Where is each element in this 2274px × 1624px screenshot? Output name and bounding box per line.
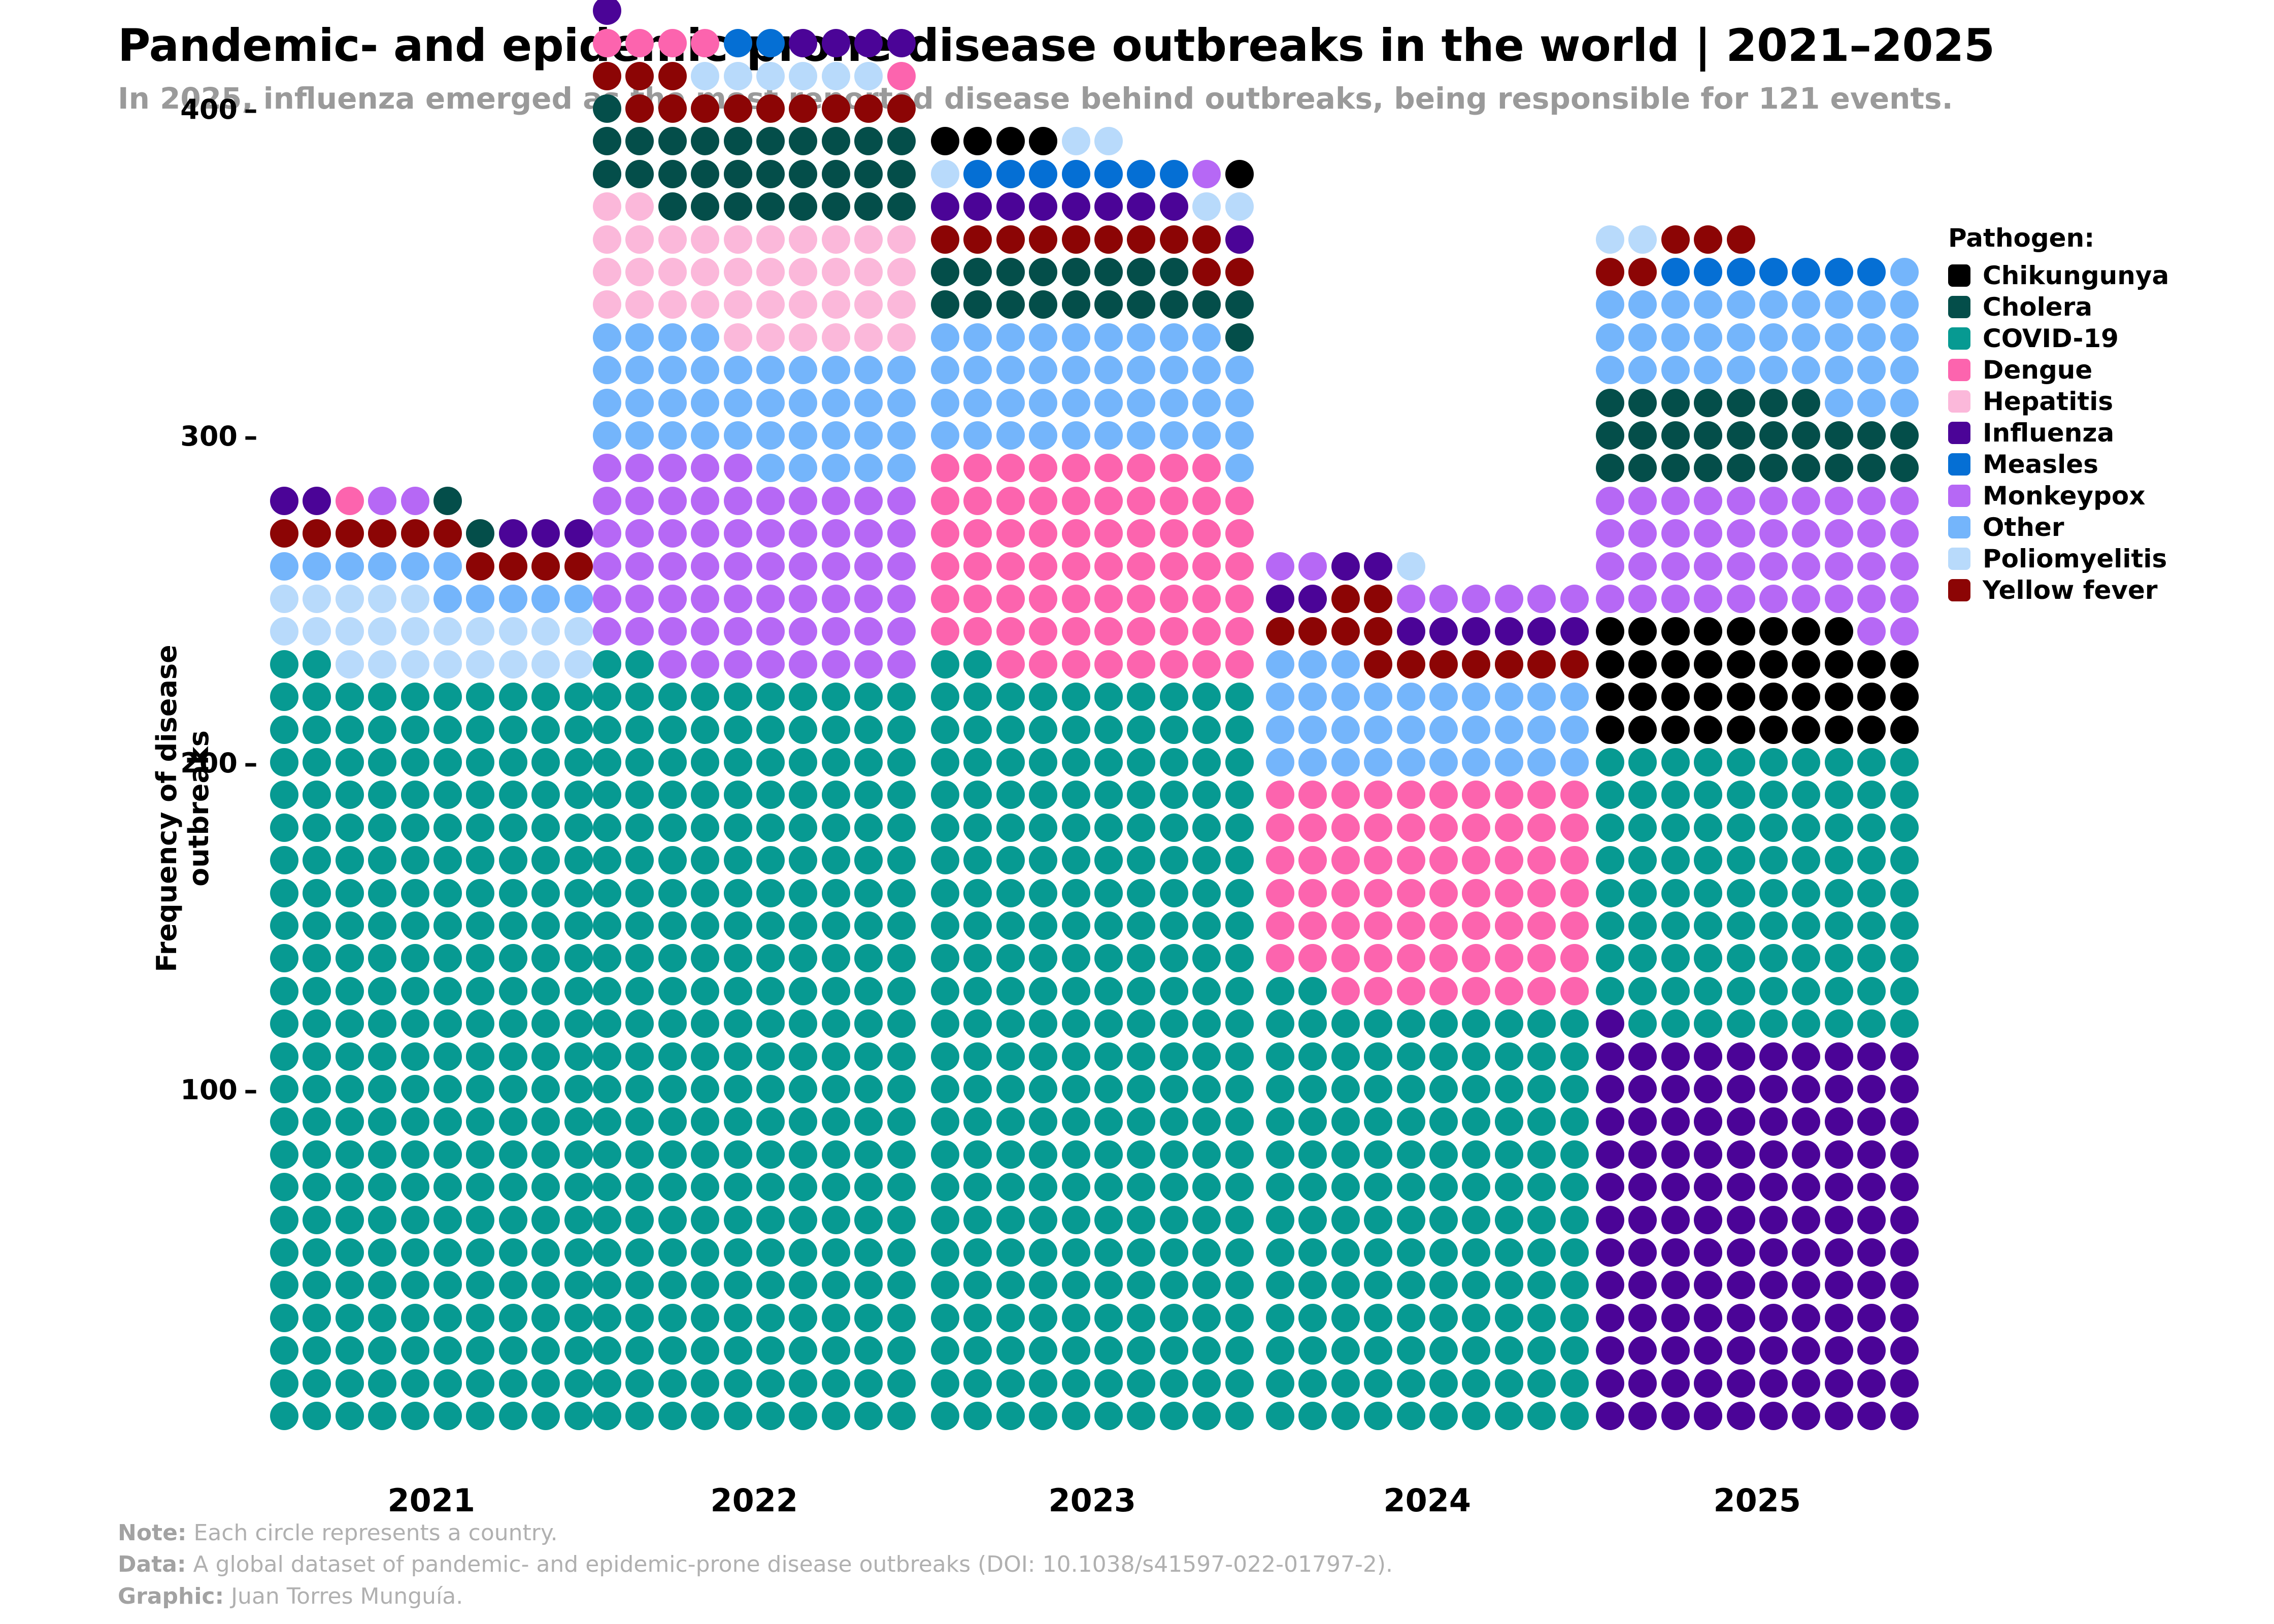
waffle-dot	[887, 1304, 916, 1332]
waffle-dot	[756, 944, 785, 972]
waffle-dot	[1661, 716, 1690, 744]
waffle-dot	[756, 225, 785, 254]
waffle-plot	[0, 0, 2274, 1624]
waffle-dot	[1298, 1304, 1327, 1332]
waffle-dot	[1331, 1042, 1360, 1071]
waffle-dot	[1397, 1009, 1425, 1038]
waffle-dot	[1298, 781, 1327, 809]
waffle-dot	[1792, 519, 1820, 548]
waffle-dot	[303, 1009, 331, 1038]
waffle-dot	[1890, 1075, 1919, 1103]
waffle-dot	[1527, 781, 1556, 809]
waffle-dot	[1364, 1075, 1392, 1103]
waffle-dot	[1694, 650, 1722, 679]
waffle-dot	[854, 225, 883, 254]
waffle-dot	[887, 487, 916, 515]
waffle-dot	[789, 1271, 817, 1299]
waffle-dot	[1727, 911, 1755, 940]
waffle-dot	[1527, 1369, 1556, 1398]
legend-item[interactable]: Cholera	[1948, 291, 2169, 323]
waffle-dot	[931, 454, 959, 482]
waffle-dot	[1192, 1304, 1221, 1332]
legend-swatch-icon	[1948, 453, 1970, 476]
waffle-dot	[1127, 1402, 1155, 1430]
waffle-dot	[658, 1140, 687, 1169]
waffle-dot	[887, 977, 916, 1005]
waffle-dot	[1429, 944, 1458, 972]
waffle-dot	[1661, 1369, 1690, 1398]
waffle-dot	[1560, 1140, 1589, 1169]
waffle-dot	[1192, 389, 1221, 417]
legend-item[interactable]: Poliomyelitis	[1948, 543, 2169, 574]
waffle-dot	[1160, 421, 1188, 450]
waffle-dot	[996, 1042, 1025, 1071]
waffle-dot	[756, 1206, 785, 1234]
waffle-dot	[593, 290, 621, 319]
waffle-dot	[996, 846, 1025, 874]
waffle-dot	[368, 1238, 396, 1267]
waffle-dot	[499, 683, 527, 711]
waffle-dot	[466, 617, 494, 646]
waffle-dot	[1462, 1402, 1490, 1430]
waffle-dot	[691, 192, 719, 221]
waffle-dot	[1628, 977, 1657, 1005]
waffle-dot	[1429, 617, 1458, 646]
waffle-dot	[1397, 650, 1425, 679]
waffle-dot	[1462, 716, 1490, 744]
waffle-dot	[1364, 683, 1392, 711]
waffle-dot	[996, 911, 1025, 940]
waffle-dot	[1792, 716, 1820, 744]
waffle-dot	[1266, 814, 1294, 842]
waffle-dot	[303, 944, 331, 972]
waffle-dot	[1890, 1304, 1919, 1332]
legend-item[interactable]: Influenza	[1948, 417, 2169, 449]
waffle-dot	[625, 1173, 654, 1201]
waffle-dot	[724, 62, 752, 90]
waffle-dot	[1127, 1107, 1155, 1136]
waffle-dot	[1759, 781, 1788, 809]
waffle-dot	[531, 1304, 560, 1332]
waffle-dot	[1094, 1075, 1123, 1103]
waffle-dot	[1890, 487, 1919, 515]
waffle-dot	[1029, 421, 1057, 450]
waffle-dot	[1825, 617, 1853, 646]
waffle-dot	[1495, 846, 1523, 874]
waffle-dot	[724, 94, 752, 123]
waffle-dot	[1225, 290, 1254, 319]
waffle-dot	[1160, 683, 1188, 711]
waffle-dot	[1364, 716, 1392, 744]
waffle-dot	[1298, 1369, 1327, 1398]
waffle-dot	[996, 977, 1025, 1005]
waffle-dot	[691, 454, 719, 482]
waffle-dot	[303, 1075, 331, 1103]
waffle-dot	[1127, 487, 1155, 515]
waffle-dot	[1890, 1271, 1919, 1299]
waffle-dot	[625, 192, 654, 221]
waffle-dot	[996, 1173, 1025, 1201]
legend-item[interactable]: Dengue	[1948, 354, 2169, 386]
waffle-dot	[1029, 1336, 1057, 1365]
waffle-dot	[1527, 1271, 1556, 1299]
waffle-dot	[531, 879, 560, 907]
waffle-dot	[1825, 421, 1853, 450]
waffle-dot	[1029, 1173, 1057, 1201]
waffle-dot	[1759, 617, 1788, 646]
waffle-dot	[1397, 617, 1425, 646]
waffle-dot	[1397, 1206, 1425, 1234]
waffle-dot	[658, 814, 687, 842]
footer-note-label: Note:	[118, 1520, 187, 1546]
waffle-dot	[1192, 1206, 1221, 1234]
waffle-dot	[691, 911, 719, 940]
waffle-dot	[564, 1271, 593, 1299]
waffle-dot	[658, 1042, 687, 1071]
waffle-dot	[1192, 617, 1221, 646]
waffle-dot	[1331, 617, 1360, 646]
waffle-dot	[1694, 1075, 1722, 1103]
legend-item[interactable]: COVID-19	[1948, 323, 2169, 354]
waffle-dot	[1266, 1173, 1294, 1201]
waffle-dot	[1397, 1402, 1425, 1430]
waffle-dot	[658, 944, 687, 972]
waffle-dot	[724, 748, 752, 776]
waffle-dot	[336, 748, 364, 776]
waffle-dot	[1825, 911, 1853, 940]
waffle-dot	[1661, 1304, 1690, 1332]
waffle-dot	[1857, 814, 1886, 842]
waffle-dot	[1225, 1206, 1254, 1234]
waffle-dot	[963, 716, 992, 744]
waffle-dot	[1857, 1107, 1886, 1136]
waffle-dot	[1527, 1107, 1556, 1136]
waffle-dot	[658, 519, 687, 548]
waffle-dot	[336, 585, 364, 613]
waffle-dot	[1727, 290, 1755, 319]
waffle-dot	[1429, 650, 1458, 679]
waffle-dot	[564, 1140, 593, 1169]
waffle-dot	[531, 1271, 560, 1299]
waffle-dot	[691, 487, 719, 515]
waffle-dot	[1727, 1140, 1755, 1169]
waffle-dot	[564, 911, 593, 940]
waffle-dot	[1127, 1173, 1155, 1201]
waffle-dot	[1225, 421, 1254, 450]
waffle-dot	[270, 846, 298, 874]
waffle-dot	[1094, 1173, 1123, 1201]
waffle-dot	[887, 1369, 916, 1398]
waffle-dot	[433, 1042, 462, 1071]
waffle-dot	[1062, 977, 1090, 1005]
waffle-dot	[1825, 1304, 1853, 1332]
waffle-dot	[1727, 944, 1755, 972]
waffle-dot	[963, 1173, 992, 1201]
waffle-dot	[270, 1173, 298, 1201]
waffle-dot	[1825, 977, 1853, 1005]
waffle-dot	[368, 1271, 396, 1299]
waffle-dot	[1495, 814, 1523, 842]
waffle-dot	[1364, 1271, 1392, 1299]
waffle-dot	[756, 519, 785, 548]
waffle-dot	[1266, 683, 1294, 711]
waffle-dot	[1495, 683, 1523, 711]
waffle-dot	[625, 421, 654, 450]
waffle-dot	[822, 192, 850, 221]
waffle-dot	[593, 585, 621, 613]
waffle-dot	[1429, 1304, 1458, 1332]
waffle-dot	[724, 389, 752, 417]
waffle-dot	[1759, 323, 1788, 352]
waffle-dot	[1727, 258, 1755, 286]
waffle-dot	[1266, 977, 1294, 1005]
waffle-dot	[1127, 225, 1155, 254]
waffle-dot	[1727, 1107, 1755, 1136]
waffle-dot	[854, 879, 883, 907]
waffle-dot	[1225, 356, 1254, 384]
waffle-dot	[658, 1009, 687, 1038]
waffle-dot	[1462, 1369, 1490, 1398]
waffle-dot	[1127, 977, 1155, 1005]
waffle-dot	[1462, 650, 1490, 679]
waffle-dot	[996, 1402, 1025, 1430]
waffle-dot	[1694, 1206, 1722, 1234]
legend-item[interactable]: Other	[1948, 512, 2169, 543]
waffle-dot	[756, 1271, 785, 1299]
waffle-dot	[1225, 160, 1254, 188]
waffle-dot	[1429, 683, 1458, 711]
waffle-dot	[996, 421, 1025, 450]
waffle-dot	[1160, 1402, 1188, 1430]
waffle-dot	[1727, 225, 1755, 254]
waffle-dot	[1890, 323, 1919, 352]
waffle-dot	[270, 1206, 298, 1234]
waffle-dot	[724, 1238, 752, 1267]
waffle-dot	[1266, 650, 1294, 679]
waffle-dot	[854, 323, 883, 352]
waffle-dot	[822, 683, 850, 711]
waffle-dot	[1694, 846, 1722, 874]
waffle-dot	[1628, 617, 1657, 646]
waffle-dot	[1062, 519, 1090, 548]
waffle-dot	[724, 1107, 752, 1136]
waffle-dot	[658, 356, 687, 384]
waffle-dot	[1759, 389, 1788, 417]
waffle-dot	[1596, 748, 1624, 776]
waffle-dot	[303, 1042, 331, 1071]
waffle-dot	[499, 814, 527, 842]
waffle-dot	[1527, 846, 1556, 874]
waffle-dot	[887, 748, 916, 776]
waffle-dot	[1560, 781, 1589, 809]
waffle-dot	[593, 160, 621, 188]
waffle-dot	[1225, 1336, 1254, 1365]
waffle-dot	[931, 1107, 959, 1136]
waffle-dot	[1890, 1238, 1919, 1267]
waffle-dot	[1727, 1206, 1755, 1234]
waffle-dot	[1560, 977, 1589, 1005]
legend-item[interactable]: Yellow fever	[1948, 574, 2169, 606]
waffle-dot	[1694, 258, 1722, 286]
waffle-dot	[564, 716, 593, 744]
waffle-dot	[1429, 1402, 1458, 1430]
waffle-dot	[996, 748, 1025, 776]
waffle-dot	[931, 389, 959, 417]
waffle-dot	[1094, 1140, 1123, 1169]
waffle-dot	[724, 225, 752, 254]
waffle-dot	[931, 552, 959, 581]
waffle-dot	[789, 1402, 817, 1430]
waffle-dot	[1225, 650, 1254, 679]
waffle-dot	[593, 258, 621, 286]
waffle-dot	[1825, 1206, 1853, 1234]
waffle-dot	[1792, 781, 1820, 809]
waffle-dot	[1364, 944, 1392, 972]
waffle-dot	[593, 225, 621, 254]
waffle-dot	[724, 356, 752, 384]
waffle-dot	[303, 683, 331, 711]
waffle-dot	[499, 977, 527, 1005]
waffle-dot	[1727, 1304, 1755, 1332]
waffle-dot	[336, 846, 364, 874]
waffle-dot	[1266, 585, 1294, 613]
waffle-dot	[789, 552, 817, 581]
waffle-dot	[1192, 1140, 1221, 1169]
waffle-dot	[756, 683, 785, 711]
waffle-dot	[1429, 846, 1458, 874]
waffle-dot	[1560, 1271, 1589, 1299]
waffle-dot	[1560, 1206, 1589, 1234]
waffle-dot	[1331, 1304, 1360, 1332]
legend-item[interactable]: Hepatitis	[1948, 386, 2169, 417]
waffle-dot	[401, 1206, 429, 1234]
waffle-dot	[931, 127, 959, 155]
legend-item[interactable]: Chikungunya	[1948, 260, 2169, 291]
waffle-dot	[1628, 323, 1657, 352]
waffle-dot	[1792, 421, 1820, 450]
waffle-dot	[1495, 911, 1523, 940]
waffle-dot	[1596, 650, 1624, 679]
waffle-dot	[789, 225, 817, 254]
waffle-dot	[1062, 356, 1090, 384]
waffle-dot	[1225, 1238, 1254, 1267]
waffle-dot	[1062, 1304, 1090, 1332]
waffle-dot	[625, 1206, 654, 1234]
waffle-dot	[691, 944, 719, 972]
waffle-dot	[1495, 1206, 1523, 1234]
waffle-dot	[658, 1336, 687, 1365]
legend-swatch-icon	[1948, 327, 1970, 350]
waffle-dot	[724, 1402, 752, 1430]
waffle-dot	[625, 879, 654, 907]
waffle-dot	[1160, 160, 1188, 188]
waffle-dot	[996, 1369, 1025, 1398]
waffle-dot	[658, 421, 687, 450]
waffle-dot	[1192, 1009, 1221, 1038]
waffle-dot	[1495, 617, 1523, 646]
waffle-dot	[1694, 683, 1722, 711]
waffle-dot	[822, 1206, 850, 1234]
waffle-dot	[1094, 944, 1123, 972]
waffle-dot	[1364, 1238, 1392, 1267]
waffle-dot	[270, 977, 298, 1005]
waffle-dot	[887, 814, 916, 842]
waffle-dot	[1694, 1140, 1722, 1169]
waffle-dot	[1727, 454, 1755, 482]
waffle-dot	[1527, 1238, 1556, 1267]
legend-item[interactable]: Monkeypox	[1948, 480, 2169, 512]
waffle-dot	[1857, 911, 1886, 940]
waffle-dot	[887, 421, 916, 450]
waffle-dot	[724, 977, 752, 1005]
waffle-dot	[963, 977, 992, 1005]
waffle-dot	[593, 454, 621, 482]
waffle-dot	[1857, 552, 1886, 581]
waffle-dot	[401, 911, 429, 940]
waffle-dot	[1160, 1369, 1188, 1398]
waffle-dot	[822, 94, 850, 123]
waffle-dot	[1825, 650, 1853, 679]
waffle-dot	[368, 683, 396, 711]
waffle-dot	[658, 160, 687, 188]
waffle-dot	[1560, 585, 1589, 613]
waffle-dot	[1857, 1271, 1886, 1299]
waffle-dot	[1160, 748, 1188, 776]
waffle-dot	[625, 977, 654, 1005]
waffle-dot	[996, 1336, 1025, 1365]
waffle-dot	[1890, 290, 1919, 319]
waffle-dot	[1062, 1009, 1090, 1038]
legend-swatch-icon	[1948, 485, 1970, 507]
waffle-dot	[789, 846, 817, 874]
waffle-dot	[531, 650, 560, 679]
waffle-dot	[1727, 1238, 1755, 1267]
footer-note: Note: Each circle represents a country.	[118, 1517, 2148, 1549]
waffle-dot	[1628, 1369, 1657, 1398]
waffle-dot	[1160, 879, 1188, 907]
waffle-dot	[854, 519, 883, 548]
waffle-dot	[1825, 454, 1853, 482]
waffle-dot	[1825, 1075, 1853, 1103]
legend-swatch-icon	[1948, 579, 1970, 601]
waffle-dot	[1225, 846, 1254, 874]
waffle-dot	[1628, 748, 1657, 776]
waffle-dot	[1266, 617, 1294, 646]
waffle-dot	[996, 585, 1025, 613]
waffle-dot	[1661, 1140, 1690, 1169]
waffle-dot	[1029, 258, 1057, 286]
waffle-dot	[466, 683, 494, 711]
waffle-dot	[1759, 1402, 1788, 1430]
waffle-dot	[996, 552, 1025, 581]
waffle-dot	[336, 617, 364, 646]
waffle-dot	[1094, 1369, 1123, 1398]
waffle-dot	[1727, 650, 1755, 679]
waffle-dot	[1062, 1107, 1090, 1136]
waffle-dot	[1331, 781, 1360, 809]
waffle-dot	[564, 617, 593, 646]
waffle-dot	[691, 650, 719, 679]
waffle-dot	[691, 1336, 719, 1365]
waffle-dot	[1527, 716, 1556, 744]
waffle-dot	[887, 552, 916, 581]
waffle-dot	[1225, 814, 1254, 842]
waffle-dot	[1628, 487, 1657, 515]
waffle-dot	[368, 552, 396, 581]
legend-item[interactable]: Measles	[1948, 449, 2169, 480]
waffle-dot	[1890, 650, 1919, 679]
waffle-dot	[887, 62, 916, 90]
